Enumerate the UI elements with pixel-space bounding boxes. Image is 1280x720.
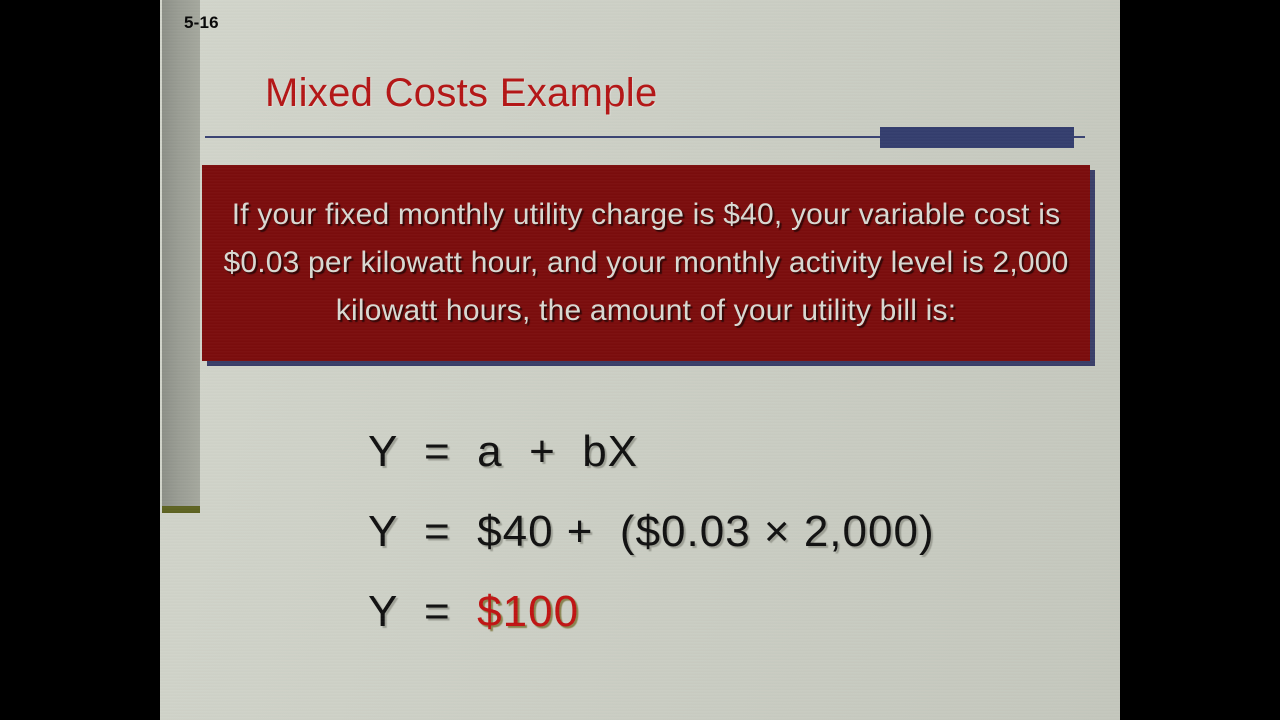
left-decorative-band [162,0,200,506]
letterbox-stage: 5-16 Mixed Costs Example If your fixed m… [0,0,1280,720]
formula-line-result: Y = $100 [368,572,1068,652]
formula-line-substituted: Y = $40 + ($0.03 × 2,000) [368,492,1068,572]
navy-accent-block [880,127,1074,148]
result-prefix: Y = [368,587,477,636]
result-value: $100 [477,587,579,636]
page-title: Mixed Costs Example [265,71,658,116]
left-band-olive-cap [162,506,200,513]
callout-text: If your fixed monthly utility charge is … [216,191,1076,335]
presentation-slide: 5-16 Mixed Costs Example If your fixed m… [160,0,1120,720]
formula-line-general: Y = a + bX [368,412,1068,492]
formula-block: Y = a + bX Y = $40 + ($0.03 × 2,000) Y =… [368,412,1068,652]
slide-number: 5-16 [184,13,219,33]
question-callout-box: If your fixed monthly utility charge is … [202,165,1090,361]
